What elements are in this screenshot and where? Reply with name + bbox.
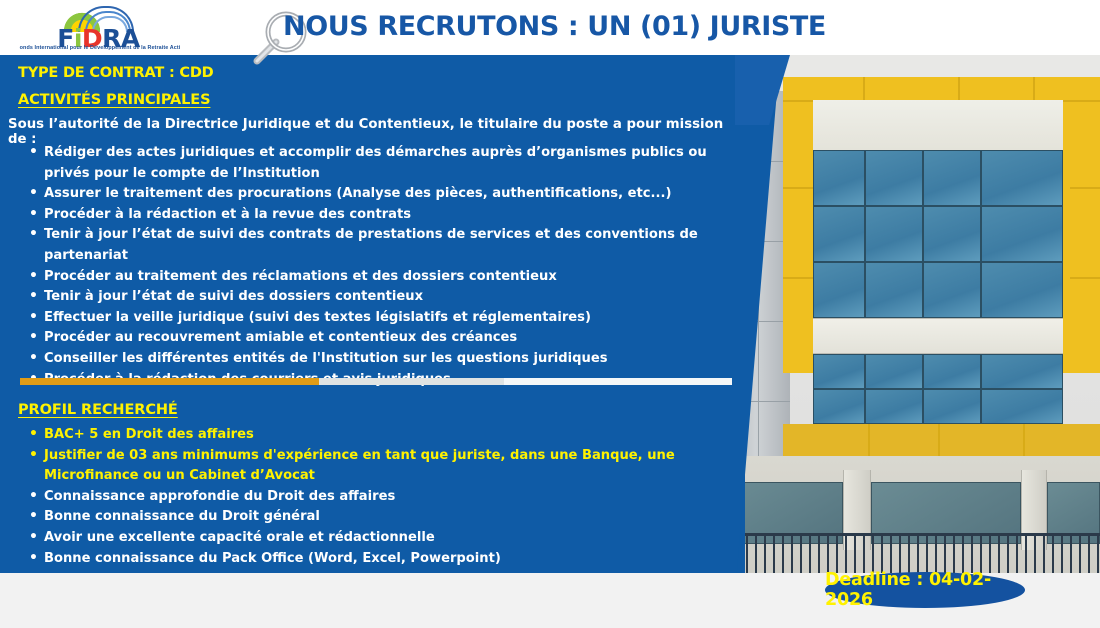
activities-list: Rédiger des actes juridiques et accompli… — [22, 143, 734, 390]
list-item: Tenir à jour l’état de suivi des dossier… — [22, 287, 734, 308]
list-item: Assurer le traitement des procurations (… — [22, 184, 734, 205]
fidra-logo: FiDRA onds International pour le Dévelop… — [16, 0, 181, 55]
list-item: Rédiger des actes juridiques et accompli… — [22, 143, 734, 184]
window-grid-upper — [813, 150, 1063, 318]
list-item: Justifier de 03 ans minimums d'expérienc… — [22, 446, 734, 487]
list-item: Connaissance approfondie du Droit des af… — [22, 487, 734, 508]
building-photo — [728, 55, 1100, 573]
list-item: Procéder au traitement des réclamations … — [22, 267, 734, 288]
recruitment-poster: FiDRA onds International pour le Dévelop… — [0, 0, 1100, 628]
poster-header: FiDRA onds International pour le Dévelop… — [0, 0, 1100, 55]
contract-type: TYPE DE CONTRAT : CDD — [18, 65, 214, 81]
section-heading-activities: ACTIVITÉS PRINCIPALES — [18, 92, 210, 108]
section-divider — [20, 378, 732, 385]
yellow-facade-band-lower — [783, 424, 1100, 456]
deadline-badge: Deadline : 04-02-2026 — [825, 572, 1025, 608]
title-zone: NOUS RECRUTONS : UN (01) JURISTE — [248, 0, 868, 55]
facade-band-middle — [813, 318, 1063, 354]
list-item: Conseiller les différentes entités de l'… — [22, 349, 734, 370]
list-item: BAC+ 5 en Droit des affaires — [22, 425, 734, 446]
list-item: Bonne connaissance du Droit général — [22, 507, 734, 528]
profile-list: BAC+ 5 en Droit des affaires Justifier d… — [22, 425, 734, 569]
page-title: NOUS RECRUTONS : UN (01) JURISTE — [283, 11, 826, 42]
poster-content: TYPE DE CONTRAT : CDD ACTIVITÉS PRINCIPA… — [0, 55, 745, 573]
list-item: Bonne connaissance du Pack Office (Word,… — [22, 549, 734, 570]
railing — [728, 533, 1100, 573]
window-grid-lower — [813, 354, 1063, 424]
list-item: Procéder au recouvrement amiable et cont… — [22, 328, 734, 349]
list-item: Effectuer la veille juridique (suivi des… — [22, 308, 734, 329]
list-item: Avoir une excellente capacité orale et r… — [22, 528, 734, 549]
building-ground-floor — [728, 456, 1100, 573]
logo-tagline: onds International pour le Développement… — [14, 45, 186, 51]
deadline-text: Deadline : 04-02-2026 — [825, 570, 1025, 610]
facade-panel-upper — [813, 100, 1063, 150]
section-heading-profile: PROFIL RECHERCHÉ — [18, 402, 178, 418]
list-item: Procéder à la rédaction et à la revue de… — [22, 205, 734, 226]
list-item: Tenir à jour l’état de suivi des contrat… — [22, 225, 734, 266]
